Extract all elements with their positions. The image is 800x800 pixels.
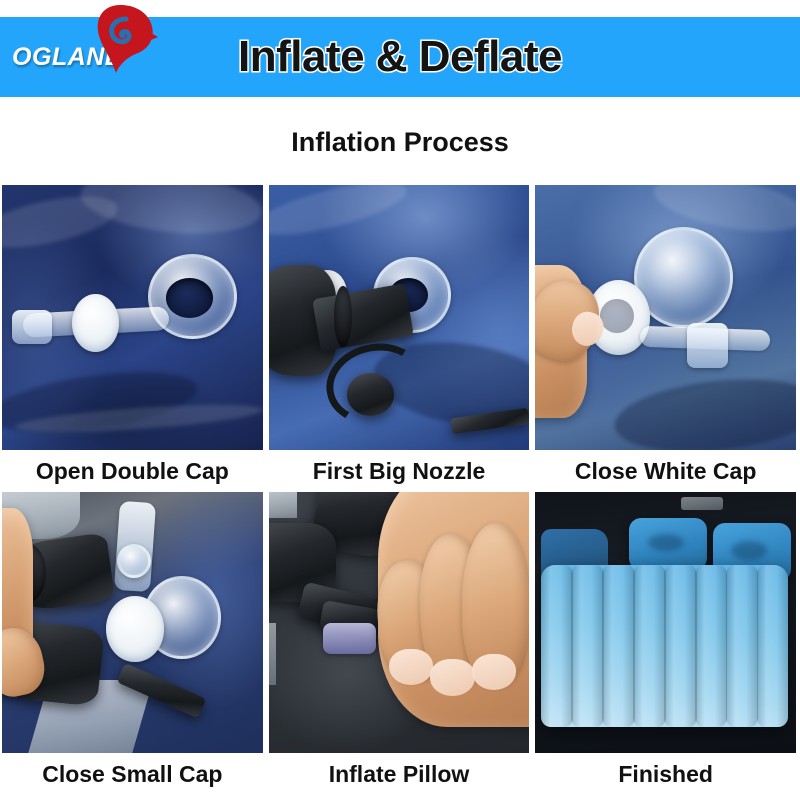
step-photo-5 — [269, 492, 530, 753]
step-cell-3: Close White Cap — [535, 185, 796, 492]
steps-grid: Open Double Cap First Big Noz — [2, 185, 796, 795]
step-caption-3: Close White Cap — [535, 450, 796, 492]
step-cell-6: Finished — [535, 492, 796, 795]
page-title: Inflate & Deflate — [0, 17, 800, 97]
step-caption-5: Inflate Pillow — [269, 753, 530, 795]
step-photo-3 — [535, 185, 796, 450]
step-cell-5: Inflate Pillow — [269, 492, 530, 795]
step-cell-2: First Big Nozzle — [269, 185, 530, 492]
step-photo-2 — [269, 185, 530, 450]
step-photo-6 — [535, 492, 796, 753]
step-caption-4: Close Small Cap — [2, 753, 263, 795]
step-photo-4 — [2, 492, 263, 753]
header-banner: OGLAND Inflate & Deflate — [0, 17, 800, 97]
infographic-page: OGLAND Inflate & Deflate Inflation Proce… — [0, 0, 800, 800]
step-caption-2: First Big Nozzle — [269, 450, 530, 492]
step-caption-1: Open Double Cap — [2, 450, 263, 492]
step-photo-1 — [2, 185, 263, 450]
step-cell-4: Close Small Cap — [2, 492, 263, 795]
step-cell-1: Open Double Cap — [2, 185, 263, 492]
step-caption-6: Finished — [535, 753, 796, 795]
section-title: Inflation Process — [0, 127, 800, 158]
